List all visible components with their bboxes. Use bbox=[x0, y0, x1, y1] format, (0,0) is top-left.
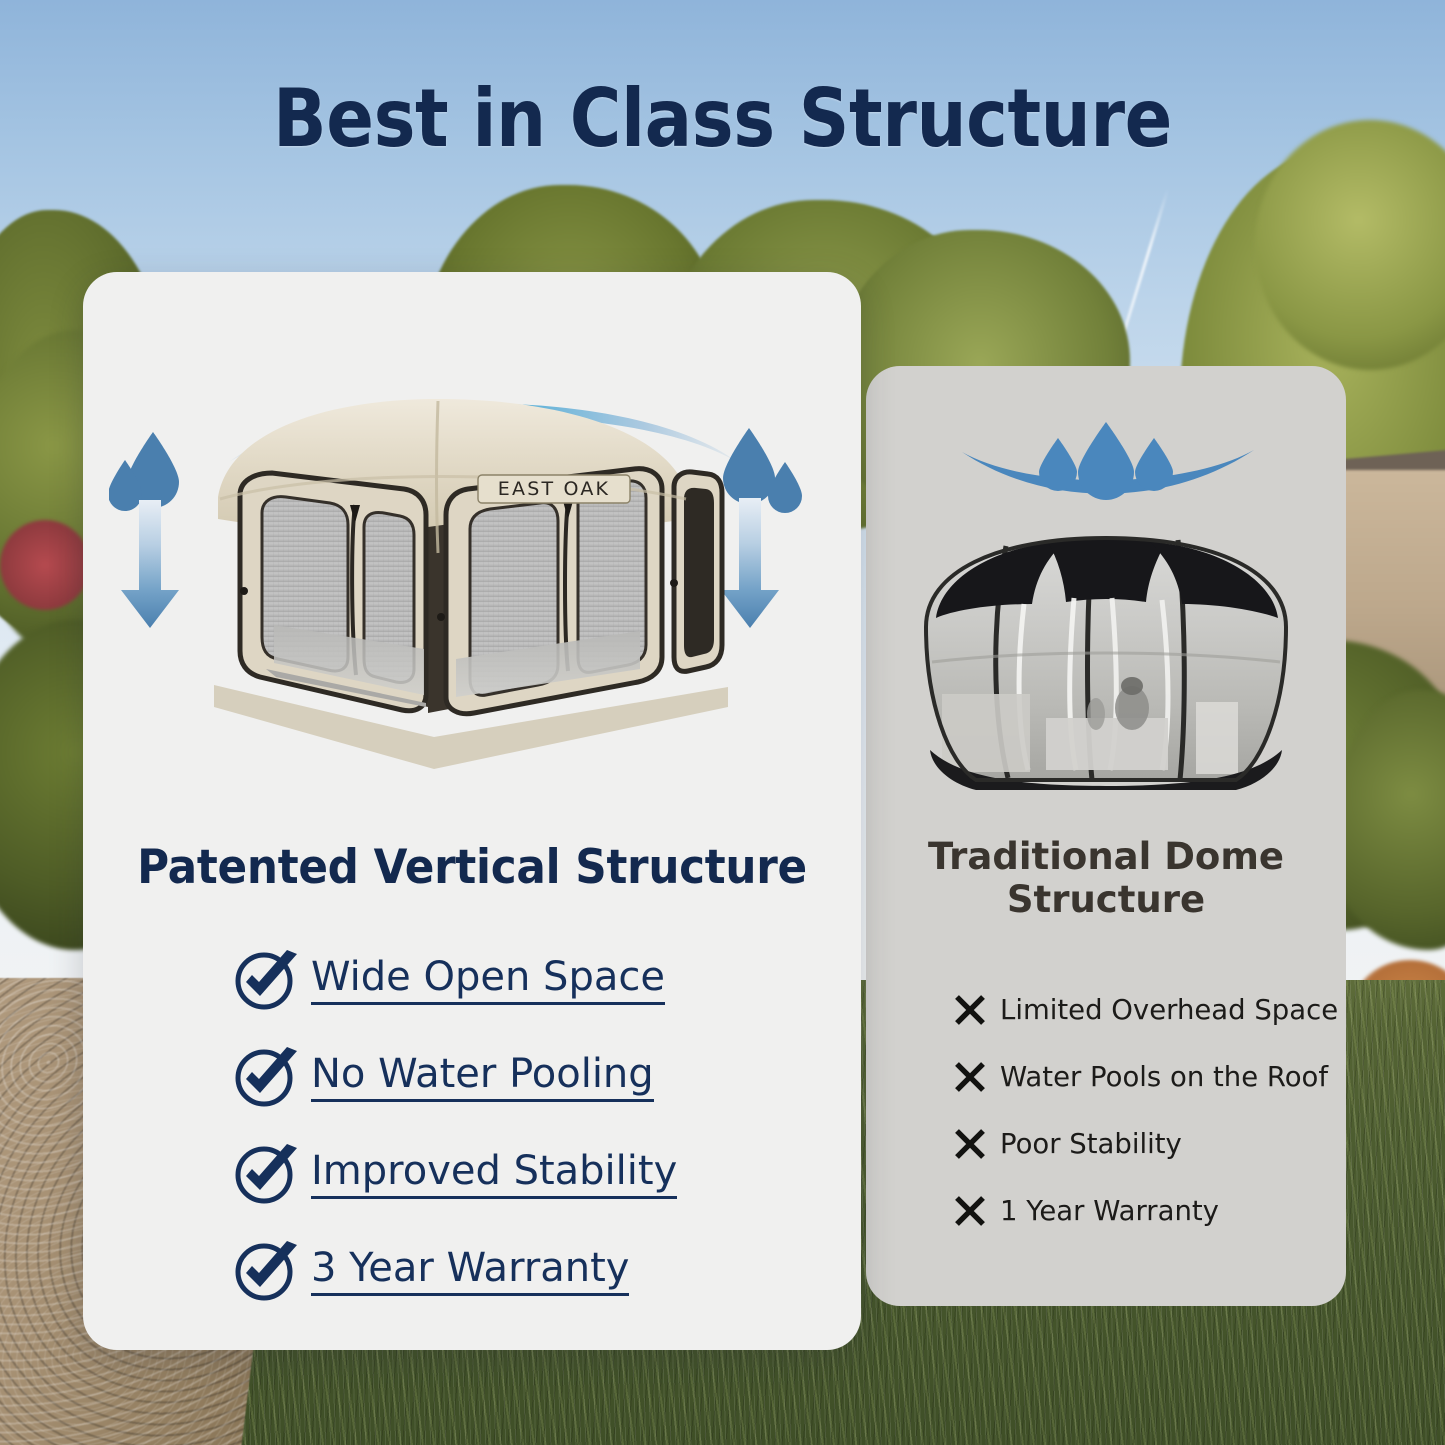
list-item: No Water Pooling bbox=[233, 1029, 793, 1126]
dome-structure-tent-image bbox=[896, 512, 1316, 812]
right-heading-line2: Structure bbox=[866, 879, 1346, 922]
x-mark-icon bbox=[950, 1191, 994, 1231]
list-item-label: Water Pools on the Roof bbox=[1000, 1061, 1328, 1093]
water-droplet-icon bbox=[1039, 438, 1077, 491]
x-mark-icon bbox=[950, 1057, 994, 1097]
water-droplet-icon bbox=[1135, 438, 1173, 491]
drawbacks-list: Limited Overhead Space Water Pools on th… bbox=[950, 976, 1350, 1244]
check-circle-icon bbox=[233, 1045, 305, 1111]
right-panel-heading: Traditional Dome Structure bbox=[866, 836, 1346, 922]
list-item: 1 Year Warranty bbox=[950, 1177, 1350, 1244]
list-item-label: 3 Year Warranty bbox=[311, 1247, 629, 1296]
features-list: Wide Open Space No Water Pooling bbox=[233, 932, 793, 1320]
list-item: Poor Stability bbox=[950, 1110, 1350, 1177]
page-title: Best in Class Structure bbox=[87, 72, 1359, 165]
check-circle-icon bbox=[233, 1239, 305, 1305]
patented-vertical-card: EAST OAK Patented Vertical Structure Wid… bbox=[83, 272, 861, 1350]
list-item: Wide Open Space bbox=[233, 932, 793, 1029]
list-item-label: Poor Stability bbox=[1000, 1128, 1182, 1160]
list-item: Water Pools on the Roof bbox=[950, 1043, 1350, 1110]
flower-cluster-left bbox=[0, 520, 90, 610]
dome-illustration bbox=[866, 422, 1346, 822]
list-item: 3 Year Warranty bbox=[233, 1223, 793, 1320]
vertical-structure-tent-image: EAST OAK bbox=[188, 377, 764, 797]
list-item: Limited Overhead Space bbox=[950, 976, 1350, 1043]
check-circle-icon bbox=[233, 1142, 305, 1208]
list-item-label: Wide Open Space bbox=[311, 956, 665, 1005]
traditional-dome-card: Traditional Dome Structure Limited Overh… bbox=[866, 366, 1346, 1306]
list-item-label: No Water Pooling bbox=[311, 1053, 654, 1102]
left-panel-heading: Patented Vertical Structure bbox=[110, 840, 834, 895]
water-droplet-icon bbox=[1078, 422, 1134, 500]
x-mark-icon bbox=[950, 990, 994, 1030]
infographic-root: Best in Class Structure bbox=[0, 0, 1445, 1445]
x-mark-icon bbox=[950, 1124, 994, 1164]
list-item-label: Limited Overhead Space bbox=[1000, 994, 1338, 1026]
check-circle-icon bbox=[233, 948, 305, 1014]
list-item-label: 1 Year Warranty bbox=[1000, 1195, 1219, 1227]
vertical-structure-illustration: EAST OAK bbox=[83, 322, 861, 842]
list-item-label: Improved Stability bbox=[311, 1150, 677, 1199]
right-heading-line1: Traditional Dome bbox=[866, 836, 1346, 879]
brand-label: EAST OAK bbox=[498, 478, 610, 500]
list-item: Improved Stability bbox=[233, 1126, 793, 1223]
